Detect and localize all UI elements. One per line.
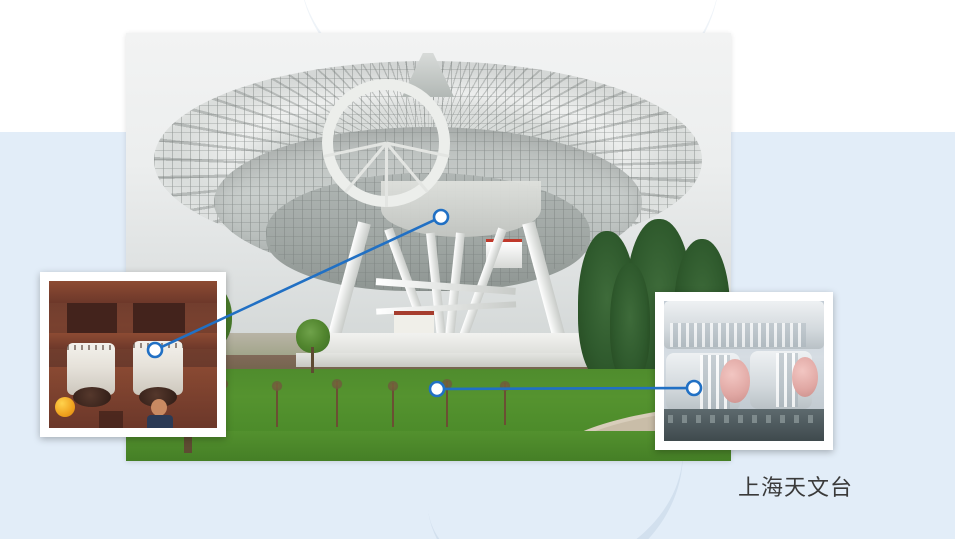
cylinder-flange-bolts [133, 343, 183, 348]
worker-silhouette [99, 411, 123, 428]
background-tree-trunk [311, 347, 314, 373]
gearbox-after-photo[interactable] [655, 292, 833, 450]
gearbox-before-image [49, 281, 217, 428]
worker-torso [147, 415, 173, 428]
sapling-foliage [271, 381, 283, 391]
sapling-foliage [499, 381, 511, 391]
photo-caption: 上海天文台 [738, 470, 853, 502]
pink-end-cap-right [792, 357, 818, 397]
rusty-frame-beam [49, 281, 217, 303]
housing-cooling-ribs [670, 323, 806, 347]
machine-base-rail [664, 409, 824, 441]
worker-head [151, 399, 167, 416]
slide-canvas: 上海天文台 [0, 0, 955, 539]
orange-helmet [55, 397, 75, 417]
frame-shadow-cavity [67, 303, 117, 337]
base-anchor-bolts [668, 415, 820, 423]
gearbox-after-image [664, 301, 824, 441]
cylinder-end-face-left [73, 387, 111, 407]
gearbox-before-photo[interactable] [40, 272, 226, 437]
sapling-foliage [331, 379, 343, 389]
frame-shadow-cavity [133, 303, 185, 337]
sapling-foliage [387, 381, 399, 391]
conifer-tree [610, 263, 650, 383]
wheel-spoke [385, 143, 388, 207]
sapling-foliage [441, 379, 453, 389]
pink-end-cap-left [720, 359, 750, 403]
cylinder-flange-bolts [67, 345, 115, 350]
